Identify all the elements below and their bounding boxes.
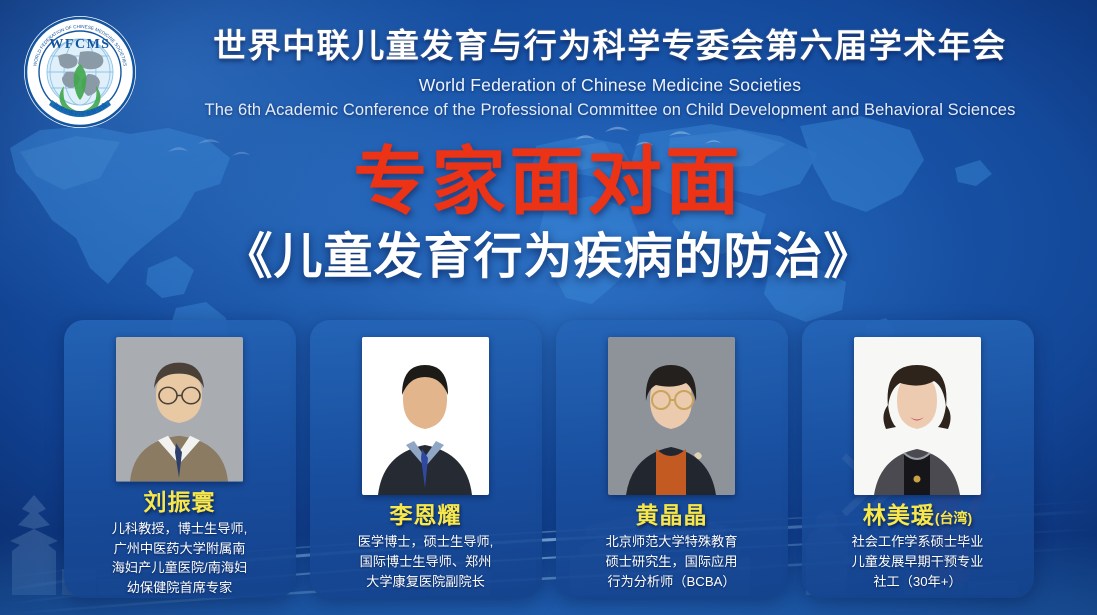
speaker-desc-line: 社工（30年+） [816, 572, 1020, 592]
headline-main: 专家面对面 [0, 142, 1097, 222]
speaker-card[interactable]: 黄晶晶 北京师范大学特殊教育 硕士研究生，国际应用 行为分析师（BCBA） [556, 320, 788, 598]
speaker-desc-line: 国际博士生导师、郑州 [324, 552, 528, 572]
headline-subtitle: 《儿童发育行为疾病的防治》 [0, 230, 1097, 285]
speaker-name: 黄晶晶 [636, 503, 708, 528]
speaker-desc-line: 医学博士，硕士生导师, [324, 532, 528, 552]
speaker-card[interactable]: 刘振寰 儿科教授，博士生导师, 广州中医药大学附属南 海妇产儿童医院/南海妇 幼… [64, 320, 296, 598]
speaker-name-text: 林美瑗 [863, 502, 935, 528]
poster-header: WFCMS WORLD FEDERATION OF CHINESE MEDICI… [0, 0, 1097, 140]
speaker-card-list: 刘振寰 儿科教授，博士生导师, 广州中医药大学附属南 海妇产儿童医院/南海妇 幼… [0, 320, 1097, 598]
conference-title-en: The 6th Academic Conference of the Profe… [150, 101, 1070, 120]
speaker-name-text: 李恩耀 [390, 502, 462, 528]
portrait-photo-icon [854, 337, 981, 495]
conference-poster: WFCMS WORLD FEDERATION OF CHINESE MEDICI… [0, 0, 1097, 615]
speaker-desc-line: 海妇产儿童医院/南海妇 [78, 558, 282, 578]
speaker-description: 社会工作学系硕士毕业 儿童发展早期干预专业 社工（30年+） [802, 532, 1034, 591]
speaker-desc-line: 幼保健院首席专家 [78, 578, 282, 598]
headline-block: 专家面对面 《儿童发育行为疾病的防治》 [0, 142, 1097, 285]
portrait-photo-icon [608, 337, 735, 495]
speaker-name-text: 黄晶晶 [636, 502, 708, 528]
title-block: 世界中联儿童发育与行为科学专委会第六届学术年会 World Federation… [150, 26, 1070, 120]
portrait-photo-icon [116, 337, 243, 482]
speaker-desc-line: 北京师范大学特殊教育 [570, 532, 774, 552]
speaker-region: (台湾) [935, 510, 972, 526]
organization-name-en: World Federation of Chinese Medicine Soc… [150, 75, 1070, 96]
svg-text:WFCMS: WFCMS [49, 37, 110, 52]
speaker-desc-line: 硕士研究生，国际应用 [570, 552, 774, 572]
portrait-photo-icon [362, 337, 489, 495]
speaker-desc-line: 儿童发展早期干预专业 [816, 552, 1020, 572]
speaker-desc-line: 大学康复医院副院长 [324, 572, 528, 592]
speaker-description: 北京师范大学特殊教育 硕士研究生，国际应用 行为分析师（BCBA） [556, 532, 788, 591]
wfcms-globe-emblem-icon: WFCMS WORLD FEDERATION OF CHINESE MEDICI… [22, 14, 138, 130]
speaker-name: 李恩耀 [390, 503, 462, 528]
speaker-name-text: 刘振寰 [144, 489, 216, 515]
speaker-desc-line: 社会工作学系硕士毕业 [816, 532, 1020, 552]
speaker-card[interactable]: 林美瑗(台湾) 社会工作学系硕士毕业 儿童发展早期干预专业 社工（30年+） [802, 320, 1034, 598]
speaker-name: 刘振寰 [144, 490, 216, 515]
speaker-description: 儿科教授，博士生导师, 广州中医药大学附属南 海妇产儿童医院/南海妇 幼保健院首… [64, 519, 296, 598]
speaker-name: 林美瑗(台湾) [863, 503, 972, 528]
speaker-card[interactable]: 李恩耀 医学博士，硕士生导师, 国际博士生导师、郑州 大学康复医院副院长 [310, 320, 542, 598]
speaker-desc-line: 儿科教授，博士生导师, [78, 519, 282, 539]
speaker-desc-line: 广州中医药大学附属南 [78, 539, 282, 559]
conference-title-cn: 世界中联儿童发育与行为科学专委会第六届学术年会 [150, 26, 1070, 67]
speaker-desc-line: 行为分析师（BCBA） [570, 572, 774, 592]
speaker-description: 医学博士，硕士生导师, 国际博士生导师、郑州 大学康复医院副院长 [310, 532, 542, 591]
